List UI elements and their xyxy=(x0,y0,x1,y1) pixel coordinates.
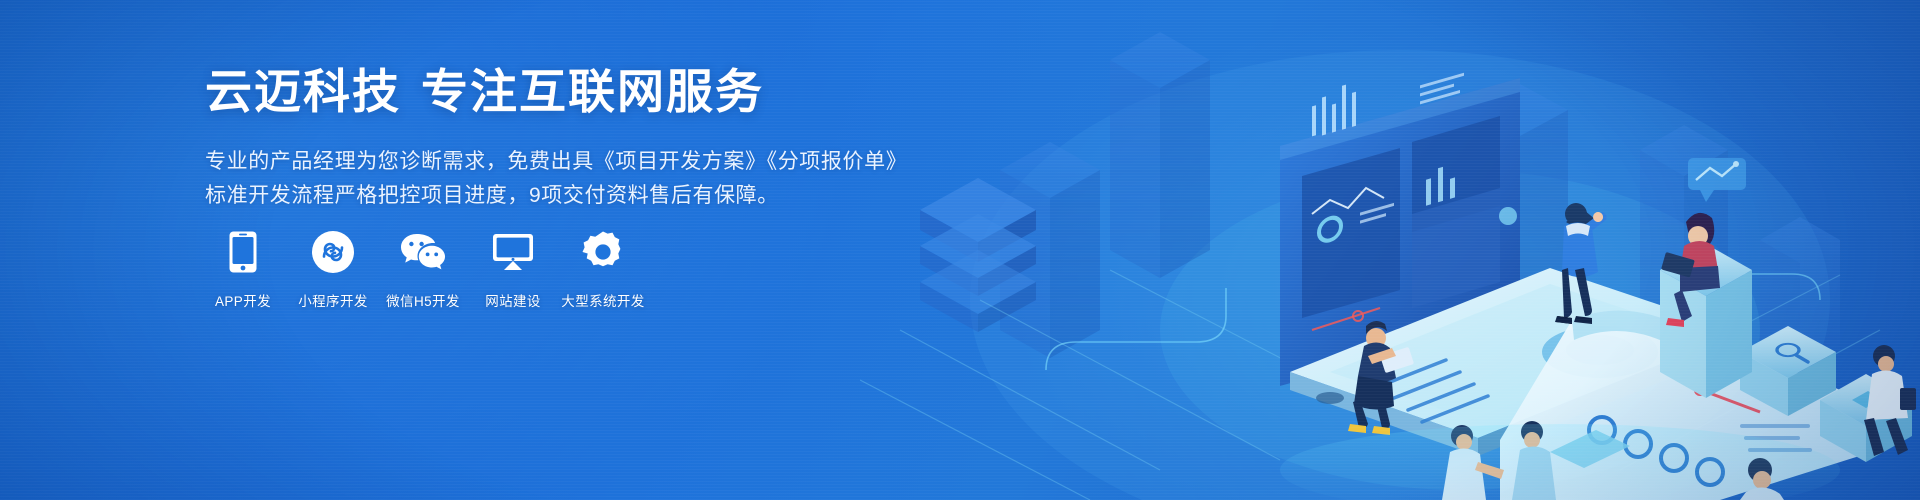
service-label: 微信H5开发 xyxy=(386,290,460,310)
page-title: 云迈科技专注互联网服务 xyxy=(205,66,925,119)
headline-tagline: 专注互联网服务 xyxy=(421,65,764,118)
wechat-miniprogram-icon xyxy=(309,228,357,276)
headline-brand: 云迈科技 xyxy=(205,65,401,118)
service-item-wechat-h5[interactable]: 微信H5开发 xyxy=(385,228,461,310)
subtitle-line-2: 标准开发流程严格把控项目进度，9项交付资料售后有保障。 xyxy=(205,179,925,213)
gear-icon xyxy=(579,228,627,276)
isometric-data-platform-illustration xyxy=(860,0,1920,500)
desktop-monitor-icon xyxy=(489,228,537,276)
wechat-icon xyxy=(399,228,447,276)
banner-copy: 云迈科技专注互联网服务 专业的产品经理为您诊断需求，免费出具《项目开发方案》《分… xyxy=(205,66,925,213)
service-label: 网站建设 xyxy=(485,290,541,310)
service-item-app[interactable]: APP开发 xyxy=(205,228,281,310)
service-item-large-system[interactable]: 大型系统开发 xyxy=(565,228,641,310)
server-stack xyxy=(920,178,1036,332)
mobile-phone-icon xyxy=(219,228,267,276)
subtitle-line-1: 专业的产品经理为您诊断需求，免费出具《项目开发方案》《分项报价单》 xyxy=(205,145,925,179)
hero-banner: 云迈科技专注互联网服务 专业的产品经理为您诊断需求，免费出具《项目开发方案》《分… xyxy=(0,0,1920,500)
service-label: 小程序开发 xyxy=(298,290,368,310)
service-item-website[interactable]: 网站建设 xyxy=(475,228,551,310)
service-label: 大型系统开发 xyxy=(561,290,644,310)
service-list: APP开发 小程序开发 微信H5开发 网站建设 大型系统开发 xyxy=(205,228,655,310)
service-item-miniprogram[interactable]: 小程序开发 xyxy=(295,228,371,310)
service-label: APP开发 xyxy=(215,290,271,310)
